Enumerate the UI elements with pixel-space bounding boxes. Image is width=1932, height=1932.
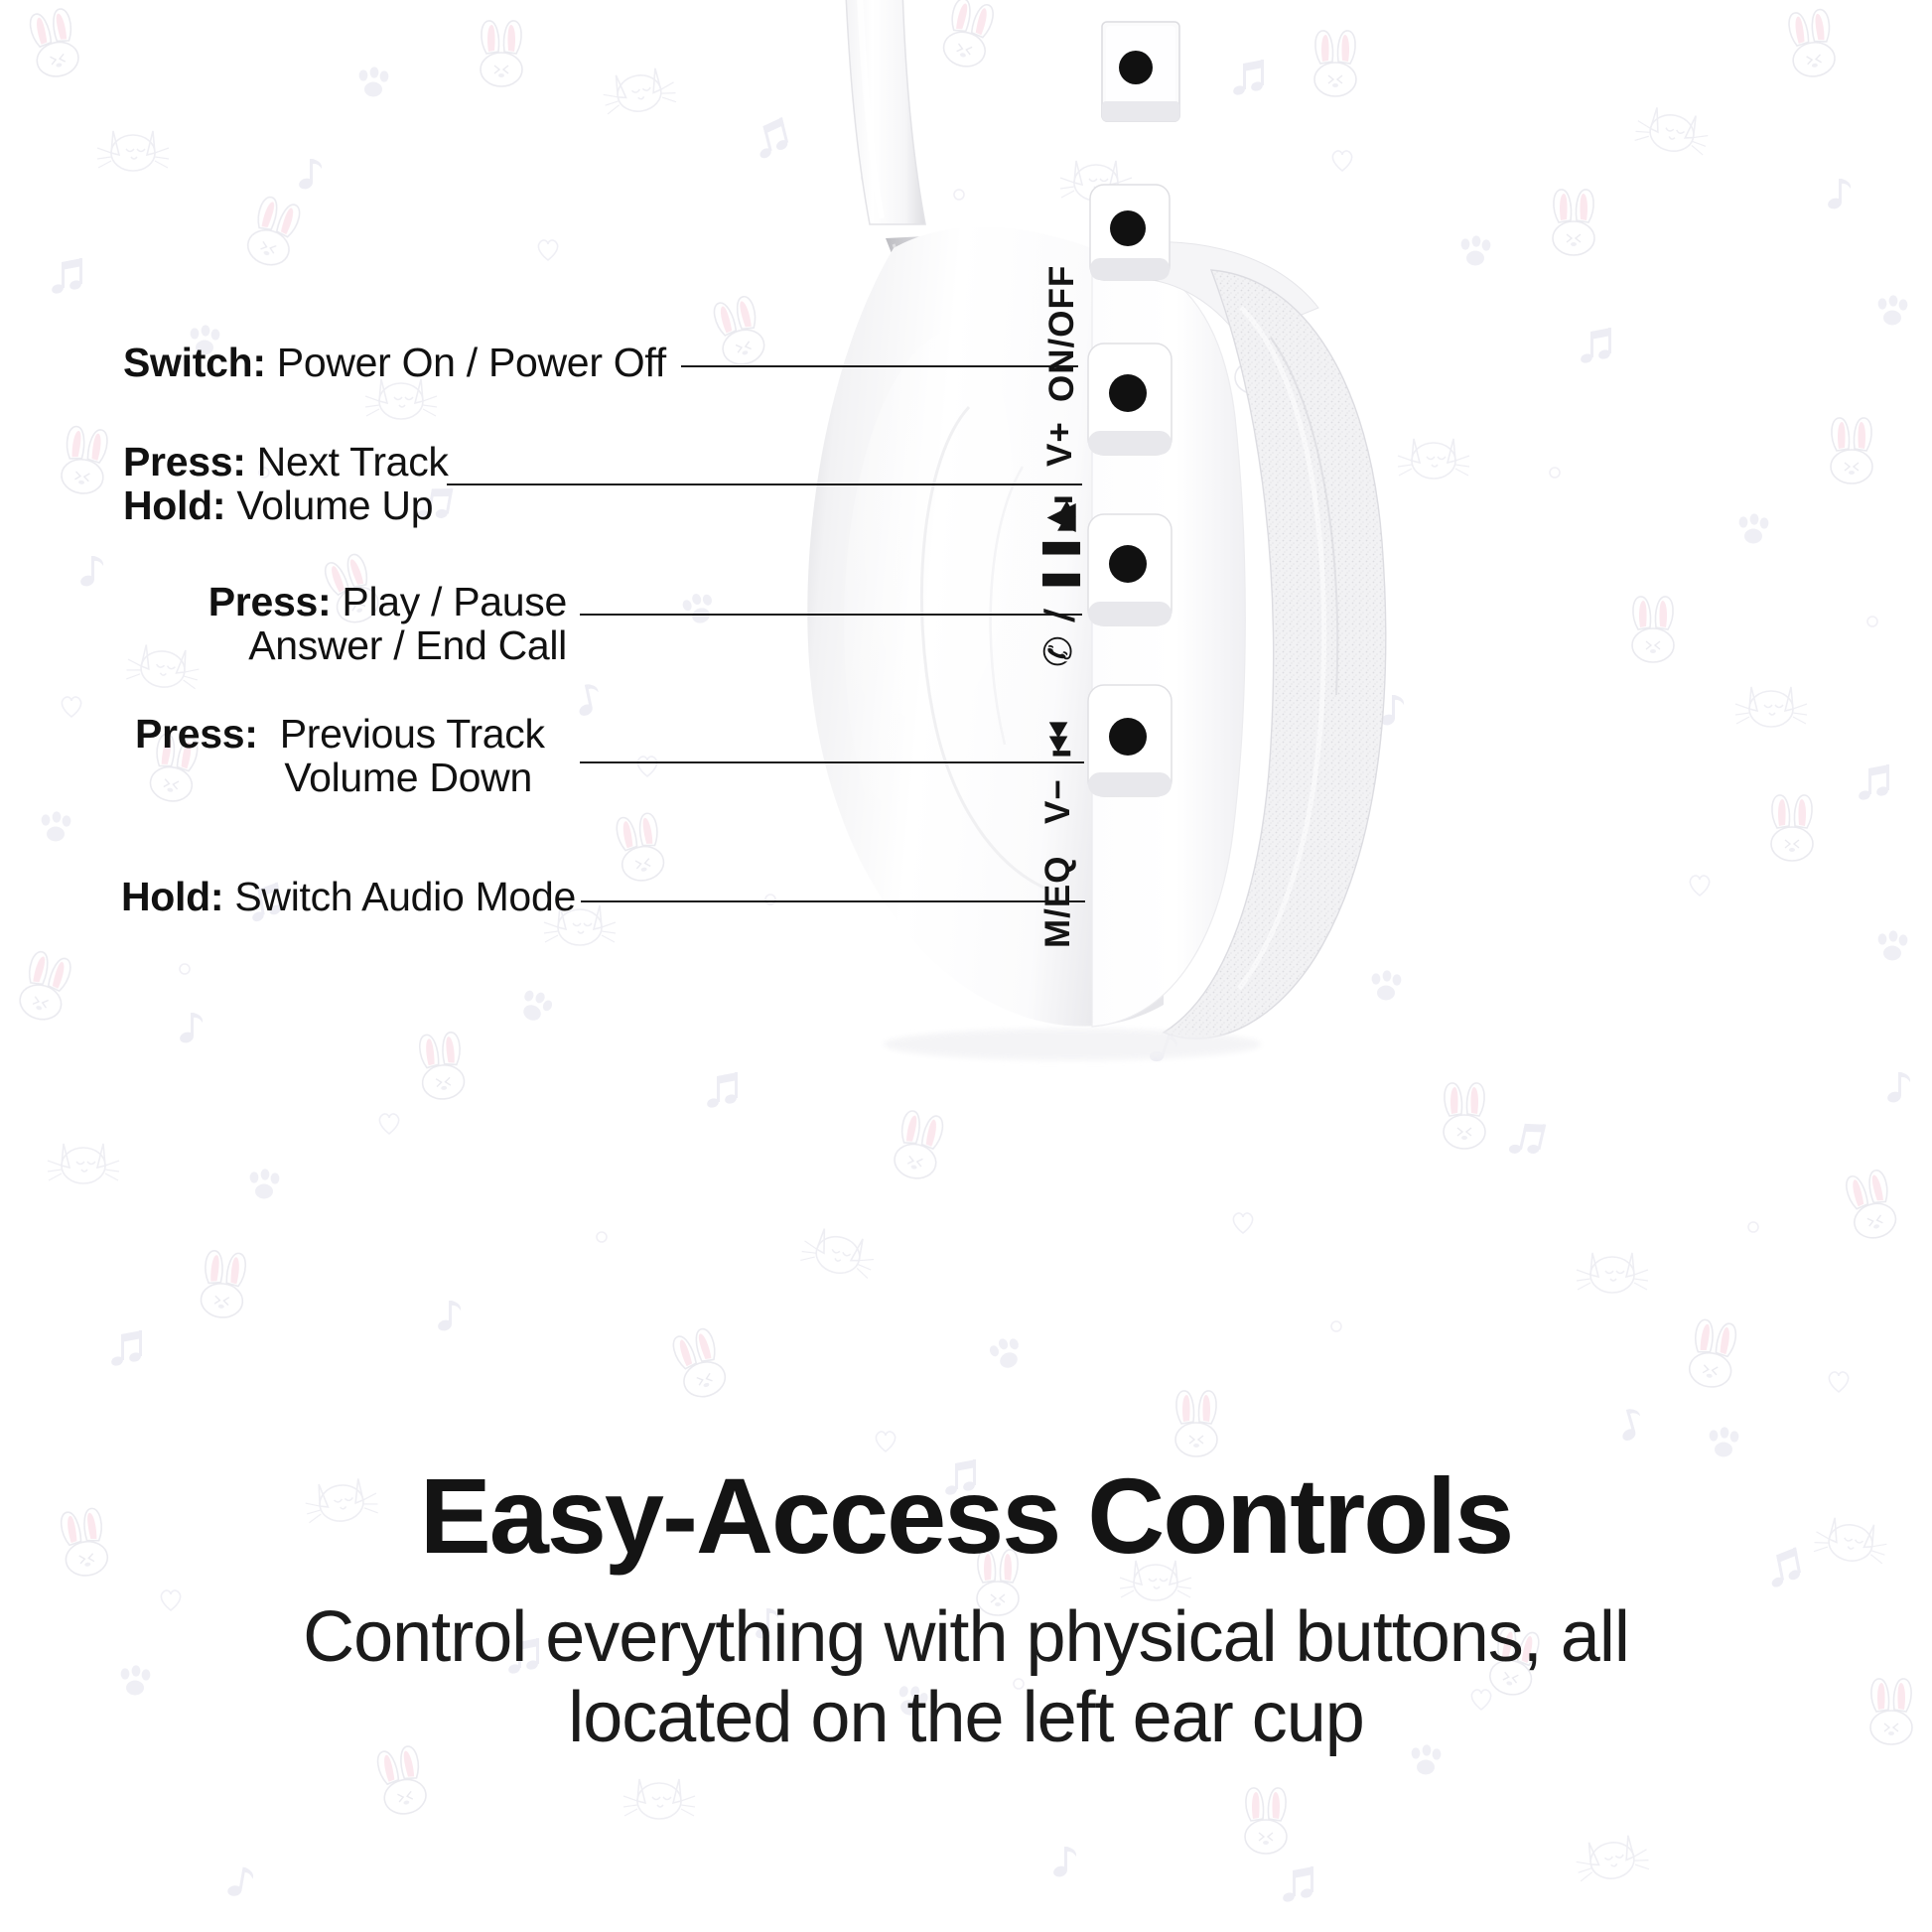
previous-track-icon: ⏮ — [1038, 721, 1084, 757]
volume-down-label: V− — [1038, 778, 1078, 824]
bottom-text-block: Easy-Access Controls Control everything … — [0, 1459, 1932, 1758]
callout-play-pause: Press: Play / Pause Answer / End Call — [118, 581, 567, 668]
callout-power-value: Power On / Power Off — [277, 340, 666, 385]
leader-line-mode — [581, 900, 1085, 902]
previous-track-button-body — [1088, 514, 1172, 625]
callout-play-key: Press: — [208, 579, 332, 624]
callout-mode-value: Switch Audio Mode — [234, 874, 576, 919]
page-subheadline: Control everything with physical buttons… — [0, 1597, 1932, 1757]
headphones-illustration — [774, 0, 1469, 1132]
volume-up-label: V+ — [1040, 421, 1080, 467]
power-button-label: ON/OFF — [1042, 265, 1082, 402]
callout-audio-mode: Hold: Switch Audio Mode — [121, 876, 576, 919]
callout-prev-value2: Volume Down — [284, 755, 532, 800]
callout-next-value2: Volume Up — [236, 483, 433, 528]
page-headline: Easy-Access Controls — [0, 1459, 1932, 1572]
subheadline-line-2: located on the left ear cup — [0, 1678, 1932, 1758]
callout-next-key: Press: — [123, 439, 246, 484]
callout-play-value2: Answer / End Call — [248, 622, 567, 668]
leader-line-power — [681, 365, 1078, 367]
audio-mode-label: M/EQ — [1038, 856, 1078, 948]
callout-next-track: Press: Next Track Hold: Volume Up — [123, 441, 449, 528]
play-pause-call-icon: ✆ ∕ ❚❚▲ — [1036, 503, 1080, 667]
leader-line-play — [580, 614, 1082, 616]
callout-play-value: Play / Pause — [342, 579, 567, 624]
callout-prev-value: Previous Track — [280, 711, 545, 757]
callout-mode-key: Hold: — [121, 874, 223, 919]
subheadline-line-1: Control everything with physical buttons… — [0, 1597, 1932, 1678]
callout-previous-track: Press: Previous Track Volume Down — [135, 713, 532, 800]
callout-next-value: Next Track — [257, 439, 449, 484]
callout-prev-key: Press: — [135, 711, 258, 757]
callout-next-key2: Hold: — [123, 483, 225, 528]
callout-power-switch: Switch: Power On / Power Off — [123, 342, 666, 385]
leader-line-next — [447, 483, 1082, 485]
callout-power-key: Switch: — [123, 340, 266, 385]
audio-mode-button-body — [1088, 685, 1172, 796]
play-pause-button-body — [1088, 344, 1172, 455]
leader-line-prev — [580, 761, 1084, 763]
power-switch-body — [1102, 22, 1179, 121]
next-track-button-body — [1090, 185, 1170, 280]
